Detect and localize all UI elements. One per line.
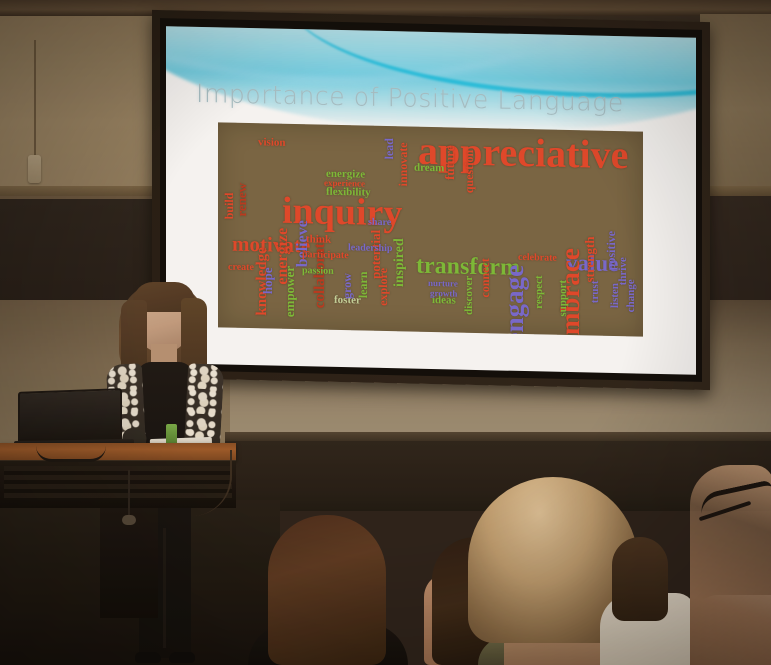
word-cloud-term: growth [430,289,457,298]
microphone-head [122,515,136,525]
word-cloud-term: hope [262,267,274,294]
word-cloud-term: create [228,263,254,273]
word-cloud-term: strength [584,236,596,282]
word-cloud-term: participate [302,250,349,260]
right-wall-upper [700,14,771,204]
word-cloud-term: dream [414,163,444,174]
desk-cable [36,446,106,462]
window-shade-cord [34,40,36,160]
word-cloud-term: grow [342,273,353,299]
word-cloud-term: leadership [348,243,392,253]
word-cloud-term: inspired [394,238,407,287]
word-cloud-term: celebrate [518,253,557,263]
word-cloud-term: engage [502,265,527,337]
word-cloud-term: nurture [428,279,458,288]
presentation-photo: Importance of Positive Language apprecia… [0,0,771,665]
ceiling-band [0,0,771,16]
audience-member-1 [268,515,386,665]
word-cloud: appreciativeinquirytransformmotivatevalu… [218,122,643,336]
microphone-stand [128,470,130,518]
word-cloud-term: experience [324,179,365,188]
word-cloud-term: learn [358,271,369,298]
word-cloud-term: listen [610,283,620,308]
presenter-shoe-left [135,652,161,663]
word-cloud-term: positive [606,231,617,271]
word-cloud-term: connect [480,258,491,298]
word-cloud-term: build [224,192,235,219]
presenter-shoe-right [169,652,195,663]
word-cloud-term: renew [236,183,248,217]
word-cloud-term: innovate [398,142,409,186]
word-cloud-term: change [626,279,636,312]
presenter-leg-gap [163,528,166,648]
word-cloud-term: future [444,145,456,180]
word-cloud-term: share [368,218,391,228]
word-cloud-term: respect [534,275,544,309]
word-cloud-term: question [464,150,475,194]
word-cloud-term: empower [284,266,296,318]
word-cloud-term: support [558,280,568,317]
word-cloud-term: discover [464,276,474,315]
word-cloud-term: explore [378,268,389,306]
window-shade-pull [28,155,41,183]
word-cloud-term: lead [384,138,395,160]
word-cloud-term: think [306,234,331,245]
word-cloud-term: trust [590,280,600,303]
audience-member-4 [612,537,668,621]
word-cloud-term: passion [302,266,334,276]
presentation-slide: Importance of Positive Language apprecia… [166,26,696,375]
word-cloud-term: vision [258,137,286,148]
